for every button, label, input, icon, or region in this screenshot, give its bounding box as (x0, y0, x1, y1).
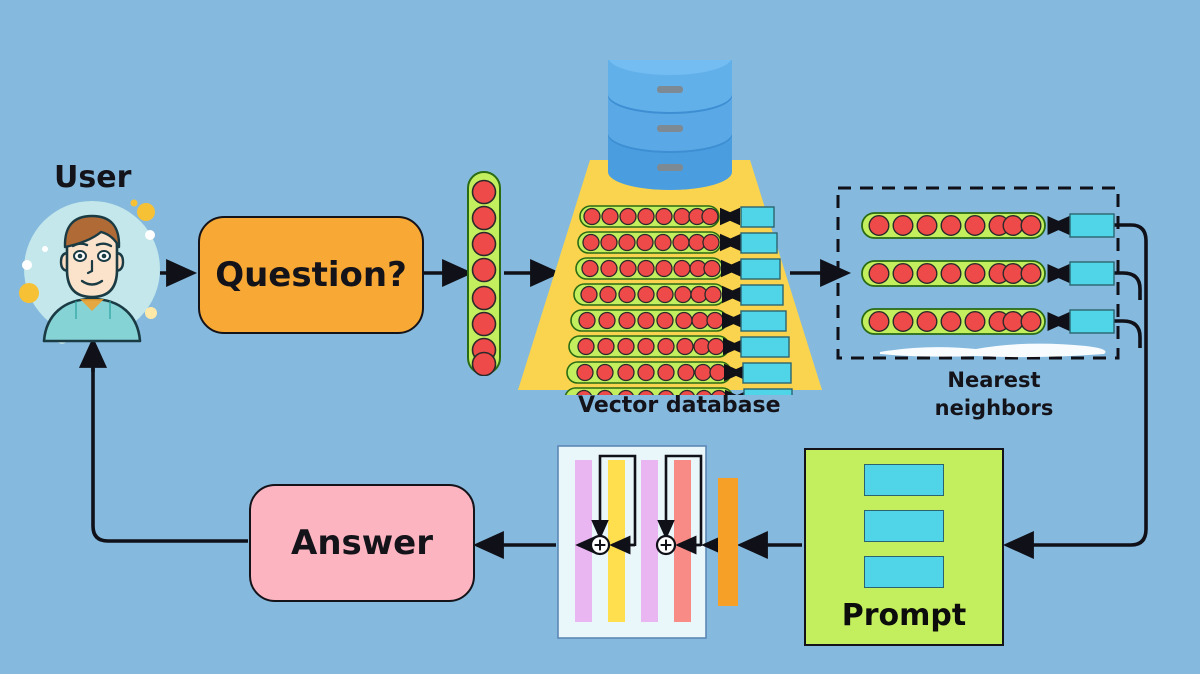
prompt-label: Prompt (842, 598, 966, 633)
question-box[interactable]: Question? (198, 216, 424, 334)
table-row (567, 362, 791, 383)
database-cylinder-icon (608, 60, 732, 190)
table-row (578, 232, 777, 253)
list-item (862, 261, 1114, 286)
user-avatar[interactable] (18, 193, 166, 345)
nearest-neighbors-rows (862, 213, 1114, 334)
answer-label: Answer (291, 523, 433, 563)
table-row (571, 310, 786, 331)
table-row (574, 284, 783, 305)
llm-input-embedding-bar (718, 478, 738, 606)
vector-database[interactable] (505, 60, 835, 395)
prompt-chunk-bar (864, 556, 944, 588)
nearest-neighbors[interactable] (836, 186, 1146, 362)
vector-database-rows (565, 206, 792, 395)
answer-box[interactable]: Answer (249, 484, 475, 602)
rag-diagram-canvas: User (0, 0, 1200, 674)
prompt-box[interactable]: Prompt (804, 448, 1004, 646)
list-item (862, 309, 1114, 334)
table-row (569, 336, 789, 357)
question-label: Question? (215, 255, 407, 295)
vector-database-label: Vector database (578, 393, 781, 418)
prompt-chunk-bar (864, 510, 944, 542)
query-vector[interactable] (466, 170, 506, 376)
nearest-neighbors-label: Nearest neighbors (934, 366, 1054, 422)
table-row (580, 206, 774, 227)
prompt-chunk-bar (864, 464, 944, 496)
list-item (862, 213, 1114, 238)
query-vector-dots (473, 181, 496, 376)
avatar-head (61, 216, 123, 297)
table-row (576, 258, 780, 279)
edge-answer-to-user (93, 352, 248, 541)
white-smudge-artifact (880, 344, 1106, 358)
user-label: User (54, 160, 131, 195)
